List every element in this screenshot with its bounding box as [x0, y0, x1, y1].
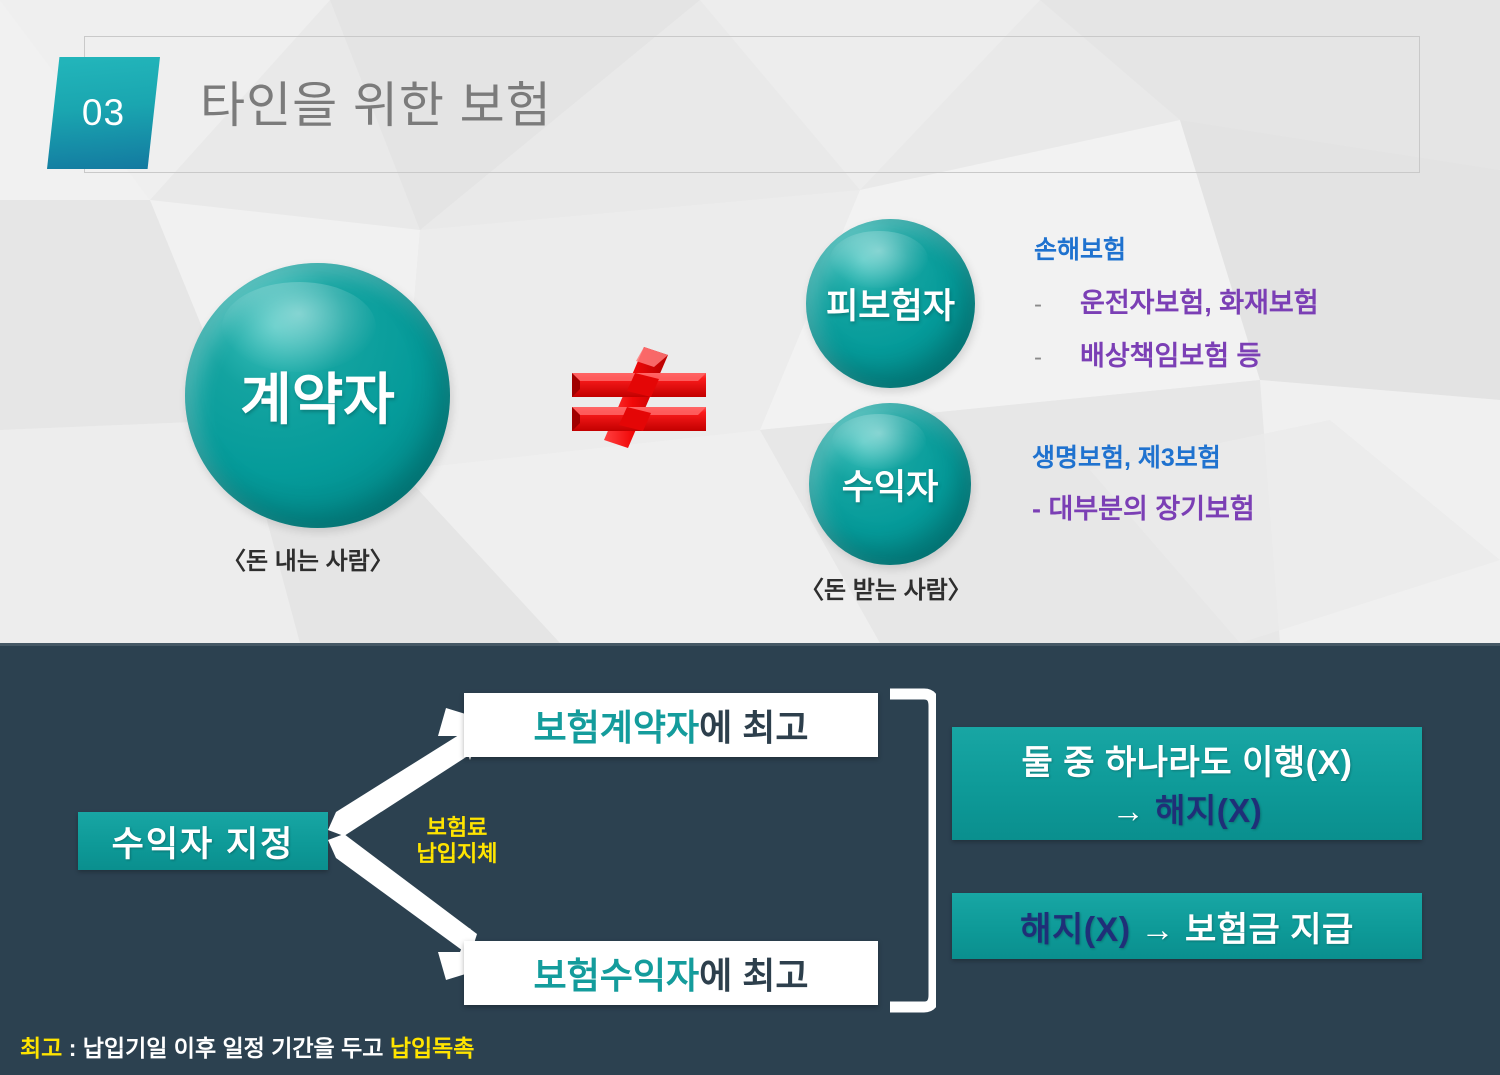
- flow-source-box: 수익자 지정: [78, 812, 328, 870]
- section-number-badge: 03: [47, 57, 160, 169]
- footer-term: 최고: [20, 1035, 62, 1061]
- grouping-bracket: [890, 688, 936, 1013]
- bullet-dash-icon: -: [1034, 344, 1080, 372]
- notice-contractor-emphasis: 보험계약자: [534, 707, 700, 748]
- notice-beneficiary-emphasis: 보험수익자: [534, 955, 700, 996]
- branch-note-line-2: 납입지체: [382, 841, 532, 867]
- result-box-1: 둘 중 하나라도 이행(X) → 해지(X): [952, 727, 1422, 840]
- damage-insurance-item-1-label: 운전자보험, 화재보험: [1080, 288, 1319, 318]
- caption-beneficiary: 〈돈 받는 사람〉: [800, 570, 972, 605]
- damage-insurance-item-1: -운전자보험, 화재보험: [1034, 281, 1319, 320]
- bullet-dash-icon: -: [1034, 291, 1080, 319]
- result-box-2: 해지(X) → 보험금 지급: [952, 893, 1422, 959]
- circle-insured: 피보험자: [806, 219, 975, 388]
- branch-note-line-1: 보험료: [382, 815, 532, 841]
- result-1-line-1: 둘 중 하나라도 이행(X): [1022, 735, 1353, 784]
- result-1-line-2: → 해지(X): [1112, 784, 1262, 832]
- result-1-navy: 해지(X): [1155, 792, 1262, 829]
- life-insurance-item-1: - 대부분의 장기보험: [1032, 487, 1255, 526]
- footer-definition: : 납입기일 이후 일정 기간을 두고: [62, 1035, 389, 1061]
- notice-contractor-rest: 에 최고: [699, 707, 808, 748]
- flow-source-label: 수익자 지정: [112, 816, 295, 867]
- section-number: 03: [47, 92, 160, 134]
- circle-contractor-label: 계약자: [240, 355, 395, 436]
- caption-contractor: 〈돈 내는 사람〉: [222, 541, 394, 576]
- branch-note: 보험료 납입지체: [382, 815, 532, 867]
- footer-note: 최고 : 납입기일 이후 일정 기간을 두고 납입독촉: [20, 1029, 474, 1063]
- notice-box-beneficiary: 보험수익자에 최고: [464, 941, 878, 1005]
- circle-insured-label: 피보험자: [826, 278, 955, 329]
- life-insurance-heading: 생명보험, 제3보험: [1032, 438, 1221, 474]
- not-equal-icon: [556, 345, 716, 450]
- result-1-arrow: →: [1112, 792, 1155, 829]
- circle-beneficiary: 수익자: [809, 403, 971, 565]
- notice-beneficiary-rest: 에 최고: [699, 955, 808, 996]
- notice-beneficiary-text: 보험수익자에 최고: [534, 947, 809, 999]
- notice-contractor-text: 보험계약자에 최고: [534, 699, 809, 751]
- notice-box-contractor: 보험계약자에 최고: [464, 693, 878, 757]
- damage-insurance-item-2: -배상책임보험 등: [1034, 334, 1261, 373]
- slide-root: 03 타인을 위한 보험 계약자 〈돈 내는 사람〉 피보험자 수익자 〈돈 받…: [0, 0, 1500, 1075]
- result-2-rest: → 보험금 지급: [1131, 911, 1354, 949]
- damage-insurance-heading: 손해보험: [1034, 230, 1126, 266]
- footer-highlight: 납입독촉: [390, 1035, 475, 1061]
- circle-contractor: 계약자: [185, 263, 450, 528]
- page-title: 타인을 위한 보험: [200, 66, 552, 137]
- result-2-text: 해지(X) → 보험금 지급: [1020, 902, 1354, 951]
- result-2-navy: 해지(X): [1020, 911, 1130, 949]
- circle-beneficiary-label: 수익자: [842, 459, 939, 510]
- damage-insurance-item-2-label: 배상책임보험 등: [1080, 341, 1261, 371]
